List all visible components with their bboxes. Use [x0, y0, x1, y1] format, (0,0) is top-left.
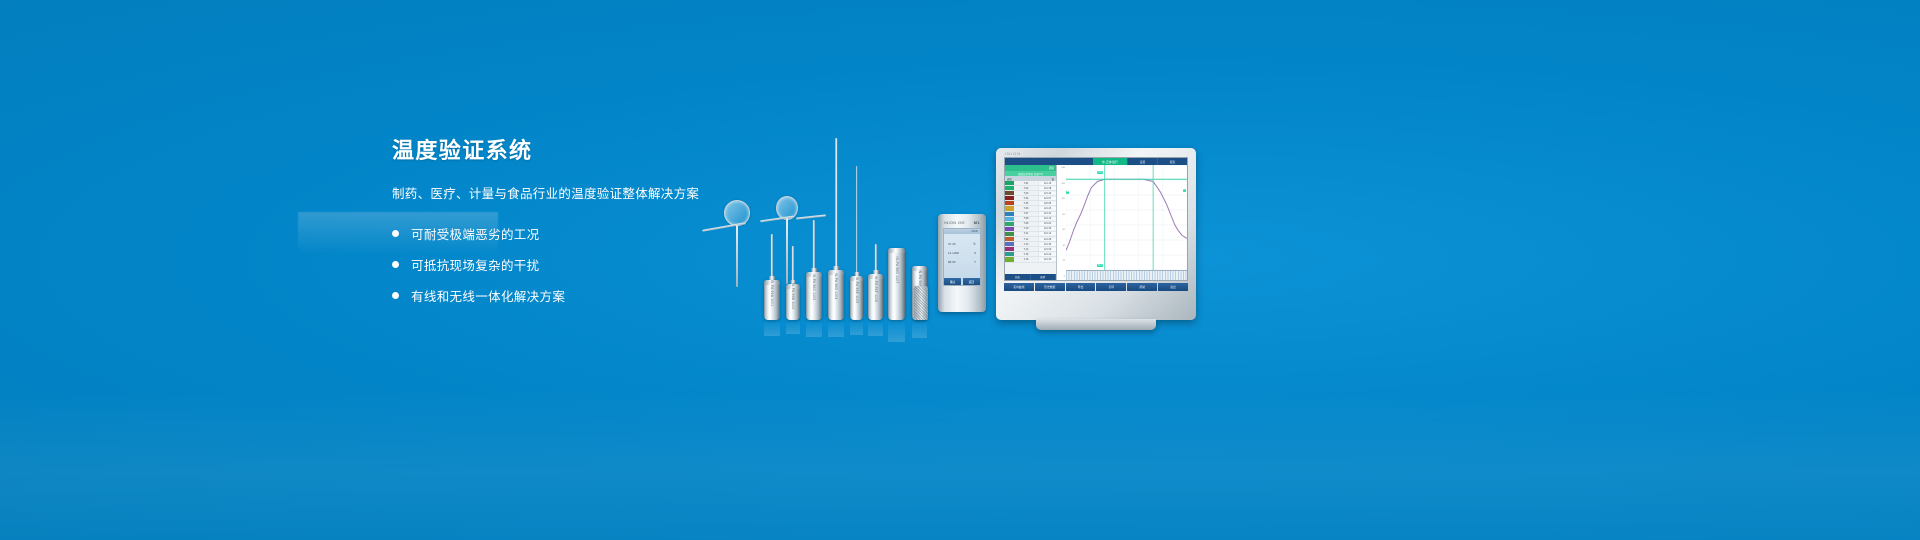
readout-label: 37.25	[948, 242, 956, 246]
bullet-dot-icon	[392, 292, 399, 299]
handheld-reader: INION IKE M1 M100 37.25 ℃ 14.1208 θ	[938, 214, 986, 312]
channel-color-swatch	[1005, 242, 1014, 246]
channel-name: T-11	[1014, 232, 1038, 235]
channel-color-swatch	[1005, 222, 1014, 226]
readout-unit: T	[974, 260, 976, 264]
channel-value: 121.38	[1038, 187, 1056, 190]
hero-banner: 温度验证系统 制药、医疗、计量与食品行业的温度验证整体解决方案 可耐受极端恶劣的…	[0, 0, 1920, 540]
channel-value: 121.31	[1038, 212, 1056, 215]
monitor-stand	[1036, 319, 1156, 330]
channel-name: T-05	[1014, 202, 1038, 205]
readout-label: 88.05	[948, 260, 956, 264]
readout-unit: ℃	[973, 242, 976, 246]
list-item: 88.05 T	[948, 260, 976, 264]
data-logger: IN-PA 96F 1106	[868, 274, 883, 320]
settings-button[interactable]: 设置	[1127, 158, 1157, 165]
channel-color-swatch	[1005, 232, 1014, 236]
channel-name: T-03	[1014, 192, 1038, 195]
select-all-button[interactable]: 全选	[1005, 274, 1031, 280]
channel-value: 121.04	[1038, 222, 1056, 225]
column-header-value: 值	[1052, 177, 1054, 181]
data-logger: IN-PA 96D 1104	[828, 270, 844, 320]
channel-name: T-06	[1014, 207, 1038, 210]
data-logger: IN-PA 96G 1107	[888, 248, 905, 320]
logger-label: IN-PA 96A 1101	[770, 280, 774, 306]
handheld-brand: INION IKE	[944, 221, 965, 225]
channel-row-list[interactable]: T-01121.16T-02121.38T-03121.42T-04121.07…	[1005, 181, 1056, 274]
channel-value: 121.12	[1038, 232, 1056, 235]
bullet-dot-icon	[392, 261, 399, 268]
channel-value: 121.42	[1038, 192, 1056, 195]
temperature-chart: 140120100806040200 起点 终点 A B	[1057, 165, 1187, 280]
channel-value: 121.07	[1038, 197, 1056, 200]
chart-plot-area	[1066, 165, 1187, 270]
chart-marker-b[interactable]: B	[1183, 189, 1186, 192]
channel-value: 120.95	[1038, 202, 1056, 205]
channel-name: T-07	[1014, 212, 1038, 215]
channel-name: T-10	[1014, 227, 1038, 230]
data-logger: IN-PA 96E 1105	[850, 276, 863, 320]
print-button[interactable]: 打印	[1096, 283, 1126, 291]
channel-name: T-13	[1014, 243, 1038, 246]
channel-name: T-09	[1014, 222, 1038, 225]
help-button[interactable]: 帮助	[1127, 283, 1157, 291]
export-button[interactable]: 导出	[1066, 283, 1096, 291]
channel-table-footer: 全选 取消	[1005, 274, 1056, 280]
channel-color-swatch	[1005, 201, 1014, 205]
channel-value: 121.28	[1038, 238, 1056, 241]
channel-color-swatch	[1005, 181, 1014, 185]
channel-name: T-16	[1014, 258, 1038, 261]
channel-name: T-08	[1014, 217, 1038, 220]
handheld-screen: M100 37.25 ℃ 14.1208 θ 88.05 T	[943, 228, 981, 286]
channel-name: T-14	[1014, 248, 1038, 251]
monitor-reflection	[298, 212, 498, 254]
logger-label: IN-PA 96F 1106	[874, 276, 878, 302]
chart-y-axis: 140120100806040200	[1057, 165, 1066, 280]
handheld-model: M1	[974, 221, 980, 225]
channel-color-swatch	[1005, 196, 1014, 200]
channel-color-swatch	[1005, 237, 1014, 241]
logger-label: IN-PA 96D 1104	[834, 273, 838, 300]
data-logger: IN-PA 96C 1103	[806, 272, 822, 320]
chart-timeline-strip[interactable]	[1066, 270, 1187, 280]
channel-table: 通道 通道总览/状态 当前(℃) 通道 值 T-01121.16T-02121.…	[1005, 165, 1057, 280]
handheld-readout-list: 37.25 ℃ 14.1208 θ 88.05 T	[944, 234, 980, 278]
clear-selection-button[interactable]: 取消	[1031, 274, 1057, 280]
channel-value: 121.23	[1038, 207, 1056, 210]
channel-color-swatch	[1005, 217, 1014, 221]
chart-marker-start[interactable]: 起点	[1097, 171, 1103, 174]
monitor-toolbar: 实时曲线 历史数据 导出 打印 帮助 退出	[1004, 283, 1188, 291]
handheld-brandbar: INION IKE M1	[943, 221, 981, 228]
validation-monitor: INION 外-正常/运行 设置 报表 通道 通道总览/状态 当前(℃) 通道	[996, 148, 1196, 320]
mesh-filter	[914, 286, 928, 320]
channel-color-swatch	[1005, 186, 1014, 190]
table-row[interactable]: T-16121.33	[1005, 257, 1056, 262]
history-data-button[interactable]: 历史数据	[1035, 283, 1065, 291]
product-photo-group: IN-PA 96A 1101 IN-PA 96B 1102 IN-PA 96C …	[700, 120, 1220, 320]
channel-color-swatch	[1005, 252, 1014, 256]
logger-label: IN-PA 96C 1103	[812, 274, 816, 301]
handheld-screen-title: M100	[972, 230, 979, 233]
channel-color-swatch	[1005, 227, 1014, 231]
channel-name: T-04	[1014, 197, 1038, 200]
channel-value: 121.22	[1038, 253, 1056, 256]
channel-name: T-12	[1014, 238, 1038, 241]
readout-unit: θ	[974, 251, 976, 255]
logger-label: IN-PA 96E 1105	[855, 277, 859, 304]
report-button[interactable]: 报表	[1157, 158, 1187, 165]
channel-color-swatch	[1005, 206, 1014, 210]
realtime-curve-button[interactable]: 实时曲线	[1004, 283, 1034, 291]
channel-value: 121.16	[1038, 182, 1056, 185]
readout-label: 14.1208	[948, 251, 959, 255]
logger-label: IN-PA 96G 1107	[895, 257, 899, 284]
channel-value: 121.36	[1038, 243, 1056, 246]
exit-button[interactable]: 退出	[1158, 283, 1188, 291]
feature-label: 有线和无线一体化解决方案	[411, 286, 565, 305]
channel-name: T-01	[1014, 182, 1038, 185]
channel-value: 121.09	[1038, 248, 1056, 251]
channel-value: 121.19	[1038, 217, 1056, 220]
monitor-brand: INION	[1005, 151, 1021, 156]
status-badge: 外-正常/运行	[1093, 158, 1127, 165]
handheld-softkeys: 确认 返回	[944, 278, 980, 285]
feature-label: 可抵抗现场复杂的干扰	[411, 255, 540, 274]
channel-color-swatch	[1005, 212, 1014, 216]
list-item: 37.25 ℃	[948, 242, 976, 246]
logger-label: IN-PA 96B 1102	[791, 283, 795, 310]
channel-color-swatch	[1005, 257, 1014, 261]
handheld-back-button[interactable]: 返回	[963, 278, 980, 285]
channel-name: T-15	[1014, 253, 1038, 256]
monitor-topbar: 外-正常/运行 设置 报表	[1005, 158, 1187, 165]
channel-color-swatch	[1005, 191, 1014, 195]
column-header-channel: 通道	[1007, 177, 1012, 181]
monitor-screen: 外-正常/运行 设置 报表 通道 通道总览/状态 当前(℃) 通道 值 T-01…	[1004, 157, 1188, 281]
channel-value: 121.45	[1038, 227, 1056, 230]
data-logger: IN-PA 96A 1101	[764, 280, 780, 320]
chart-svg	[1066, 165, 1187, 270]
data-logger: IN-PA 96B 1102	[786, 284, 800, 320]
channel-color-swatch	[1005, 247, 1014, 251]
coiled-probe-icon	[724, 200, 750, 226]
list-item: 14.1208 θ	[948, 251, 976, 255]
channel-name: T-02	[1014, 187, 1038, 190]
channel-value: 121.33	[1038, 258, 1056, 261]
chart-marker-end[interactable]: 终点	[1097, 264, 1103, 267]
coiled-probe-icon	[776, 196, 798, 220]
handheld-confirm-button[interactable]: 确认	[944, 278, 961, 285]
